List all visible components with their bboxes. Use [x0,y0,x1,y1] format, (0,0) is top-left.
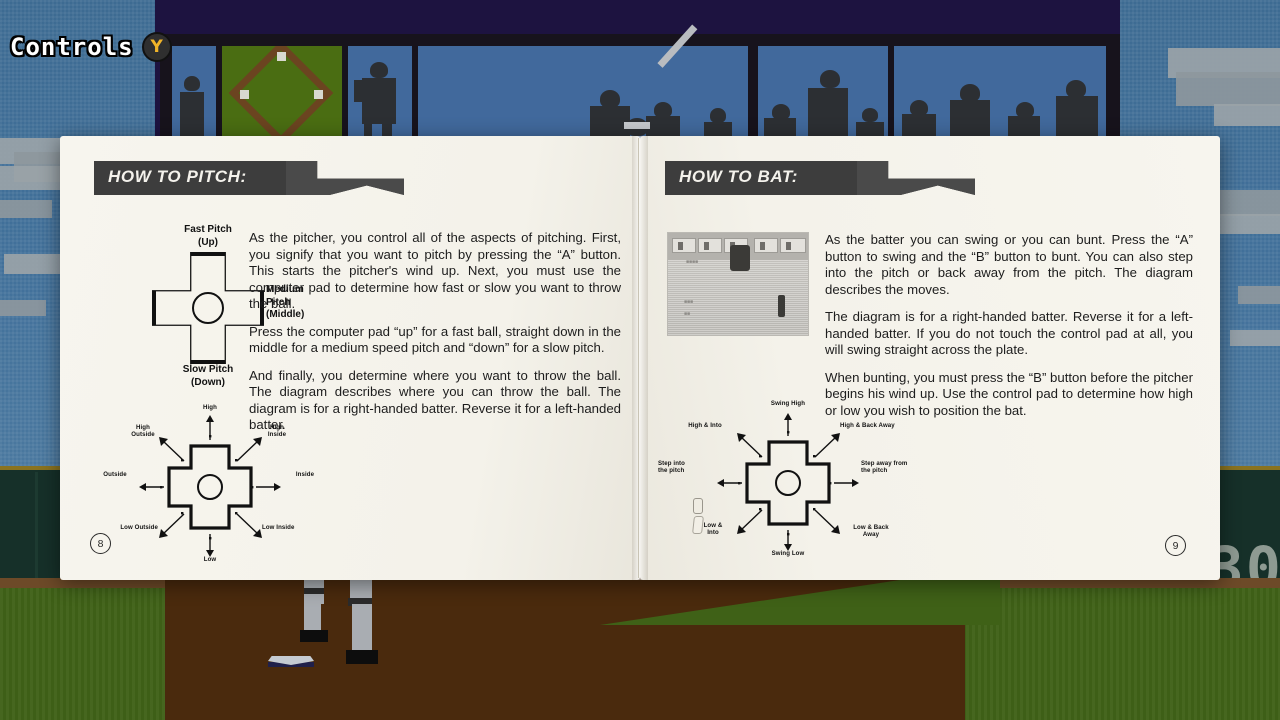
photo-window [754,238,778,253]
press-box-window [758,46,888,140]
cloud [0,200,52,218]
how-to-pitch-banner: HOW TO PITCH: [94,161,404,195]
staple-icon [692,516,704,534]
pitch-loc-low-outside: Low Outside [96,524,158,531]
fast-pitch-line1: Fast Pitch [158,224,258,237]
crowd-silhouette [808,88,848,140]
crowd-silhouette [950,100,990,140]
photo-overlay-text: ■■ [684,311,690,317]
pitch-loc-high-outside: High Outside [116,424,170,439]
bat-control-diagram: Swing High High & Into High & Back Away … [658,398,918,558]
banner-text: HOW TO BAT: [679,167,798,187]
paragraph: Press the computer pad “up” for a fast b… [249,324,621,357]
how-to-bat-banner: HOW TO BAT: [665,161,975,195]
paragraph: As the pitcher, you control all of the a… [249,230,621,313]
pitch-loc-outside: Outside [92,471,138,478]
crowd-silhouette [370,62,388,78]
cloud [1214,104,1280,126]
pitch-loc-inside: Inside [282,471,328,478]
pitch-loc-low-inside: Low Inside [262,524,324,531]
photo-overlay-text: ■■■ [684,299,693,305]
slow-pitch-label: Slow Pitch (Down) [158,364,258,389]
fast-pitch-line2: (Up) [158,237,258,250]
press-box-field-window [222,46,342,140]
dpad-center-circle [192,292,224,324]
bat-swing-high: Swing High [758,400,818,407]
press-box-window [348,46,412,140]
game-screen: 130 650 Controls Y [0,0,1280,720]
photo-score-text: ■■■■ [686,259,698,265]
slow-pitch-line1: Slow Pitch [158,364,258,377]
controls-hud[interactable]: Controls Y [10,32,172,62]
photo-crowd [760,242,765,250]
crowd-silhouette [820,70,840,88]
press-box-window [418,46,748,140]
book-gutter [632,136,648,580]
page-number-right: 9 [1165,535,1186,556]
bat-step-away: Step away from the pitch [861,460,919,475]
base [240,90,249,99]
photo-window [672,238,696,253]
photo-window [780,238,806,253]
crowd-silhouette [362,78,396,124]
pitch-location-diagram: High High Outside High Inside Outside In… [90,404,330,564]
book-fold-line [638,138,639,578]
crowd-silhouette [1056,96,1098,140]
fast-pitch-label: Fast Pitch (Up) [158,224,258,249]
bat-high-into: High & Into [674,422,736,429]
cloud [1238,286,1280,304]
crowd-silhouette [180,92,204,140]
staple-icon [693,498,703,514]
banner-text: HOW TO PITCH: [108,167,247,187]
photo-crowd [704,242,709,250]
photo-crowd [678,242,683,250]
press-box-window [894,46,1106,140]
crowd-silhouette [354,80,362,102]
press-box-window [172,46,216,140]
y-button-icon[interactable]: Y [142,32,172,62]
base [277,52,286,61]
pitch-loc-high: High [186,404,234,411]
pitch-speed-dpad [152,252,264,364]
manual-left-page[interactable]: HOW TO PITCH: Fast Pitch (Up) Medium Pit… [60,136,640,580]
pitch-loc-low: Low [186,556,234,563]
batter-helmet [624,122,650,129]
cloud [1230,330,1280,346]
wall-seam [35,472,38,578]
cloud [1176,72,1280,106]
bat-low-back-away: Low & Back Away [840,524,902,539]
y-button-glyph: Y [150,39,162,56]
slow-pitch-line2: (Down) [158,377,258,390]
photo-window [698,238,722,253]
photo-crowd [786,242,791,250]
photo-batter [730,245,750,271]
baseball-diamond [228,50,336,138]
gameplay-photo: ■■■■ ■■■ ■■ [667,232,809,336]
crowd-silhouette [862,108,878,122]
paragraph: As the batter you can swing or you can b… [825,232,1193,298]
pitch-loc-high-inside: High Inside [250,424,304,439]
bat-high-back-away: High & Back Away [840,422,914,429]
paragraph: The diagram is for a right-handed batter… [825,309,1193,359]
crowd-silhouette [710,108,726,123]
controls-label: Controls [10,33,134,61]
cloud [0,300,46,316]
base [314,90,323,99]
page-number-left: 8 [90,533,111,554]
bat-step-into: Step into the pitch [658,460,714,475]
manual-right-page[interactable]: HOW TO BAT: ■■■■ ■■■ ■■ [640,136,1220,580]
manual-spread[interactable]: HOW TO PITCH: Fast Pitch (Up) Medium Pit… [60,136,1220,580]
bat-swing-low: Swing Low [758,550,818,557]
photo-fielder [778,295,785,317]
crowd-silhouette [184,76,200,91]
